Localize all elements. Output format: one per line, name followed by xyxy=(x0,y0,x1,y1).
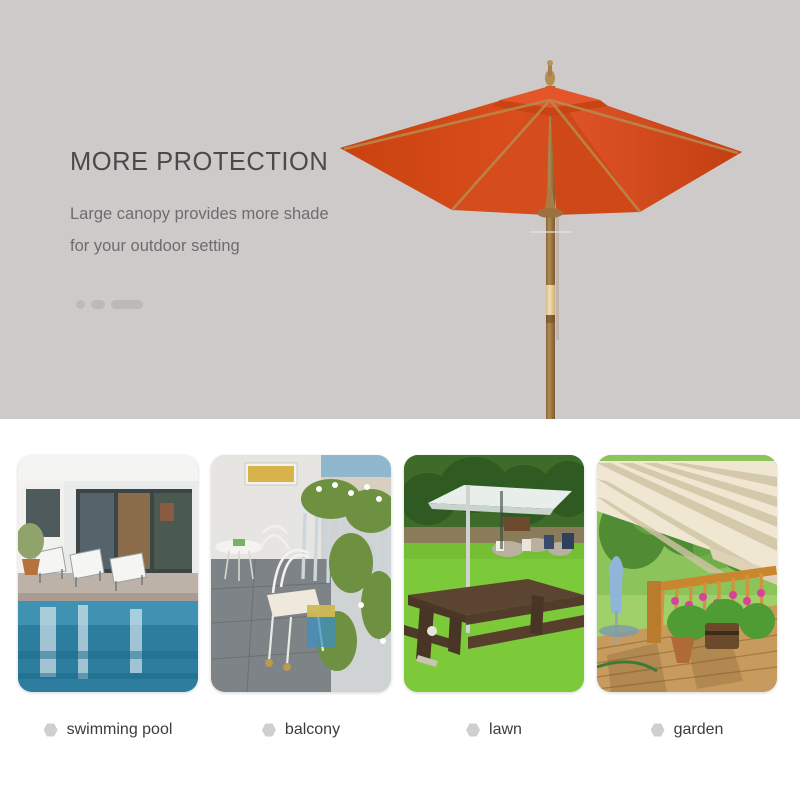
swimming-pool-photo xyxy=(18,455,198,692)
lawn-photo xyxy=(404,455,584,692)
caption-garden: garden xyxy=(597,712,777,748)
closed-umbrella xyxy=(609,556,623,613)
hexagon-icon xyxy=(262,723,276,737)
caption-label: swimming pool xyxy=(67,721,173,739)
caption-balcony: balcony xyxy=(211,712,391,748)
caption-lawn: lawn xyxy=(404,712,584,748)
balcony-photo xyxy=(211,455,391,692)
product-feature-banner: MORE PROTECTION Large canopy provides mo… xyxy=(0,0,800,800)
umbrella-hub-collar xyxy=(537,208,563,218)
gallery-thumbnails xyxy=(0,455,800,700)
caption-swimming-pool: swimming pool xyxy=(18,712,198,748)
hexagon-icon xyxy=(44,723,58,737)
umbrella-finial xyxy=(545,60,555,86)
railing-post xyxy=(647,581,661,643)
gallery-thumb-lawn[interactable] xyxy=(404,455,584,692)
gallery-thumb-swimming-pool[interactable] xyxy=(18,455,198,692)
gallery-captions: swimming pool balcony lawn garden xyxy=(0,712,800,748)
hero-panel: MORE PROTECTION Large canopy provides mo… xyxy=(0,0,800,419)
gallery-thumb-garden[interactable] xyxy=(597,455,777,692)
hexagon-icon xyxy=(466,723,480,737)
caption-label: garden xyxy=(674,721,724,739)
patio-umbrella-illustration xyxy=(0,0,800,419)
caption-label: lawn xyxy=(489,721,522,739)
caption-label: balcony xyxy=(285,721,340,739)
gallery-thumb-balcony[interactable] xyxy=(211,455,391,692)
garden-photo xyxy=(597,455,777,692)
hexagon-icon xyxy=(651,723,665,737)
barrel-planter xyxy=(705,623,739,649)
